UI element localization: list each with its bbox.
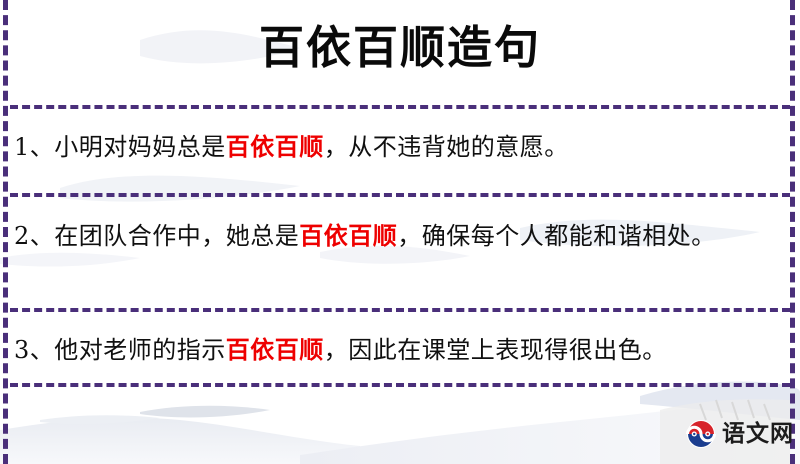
dashed-separator-3 [10,308,790,312]
sentence-text-after-3: ，因此在课堂上表现得很出色。 [324,336,667,364]
idiom-highlight-2: 百依百顺 [299,221,397,250]
site-logo[interactable]: 语文网 [686,414,794,454]
worksheet-page: 百依百顺造句 1、小明对妈妈总是百依百顺，从不违背她的意愿。 2、在团队合作中，… [0,0,800,464]
sentence-number-2: 2、 [14,222,54,250]
dashed-separator-1 [10,105,790,109]
idiom-highlight-1: 百依百顺 [226,132,324,161]
sentence-text-before-2: 在团队合作中，她总是 [54,222,299,250]
yuwen-emblem-icon [686,419,716,449]
sentence-text-after-1: ，从不违背她的意愿。 [324,133,569,161]
dashed-separator-4 [10,383,790,387]
site-logo-text: 语文网 [722,419,794,449]
sentence-item-1: 1、小明对妈妈总是百依百顺，从不违背她的意愿。 [14,125,782,169]
left-dashed-border [3,0,8,464]
sentence-number-3: 3、 [14,336,54,364]
page-title: 百依百顺造句 [0,18,800,78]
sentence-text-before-3: 他对老师的指示 [54,336,226,364]
sentence-item-2: 2、在团队合作中，她总是百依百顺，确保每个人都能和谐相处。 [14,214,782,258]
right-dashed-border [790,0,795,464]
dashed-separator-2 [10,193,790,197]
sentence-text-after-2: ，确保每个人都能和谐相处。 [397,222,716,250]
sentence-text-before-1: 小明对妈妈总是 [54,133,226,161]
idiom-highlight-3: 百依百顺 [226,335,324,364]
sentence-number-1: 1、 [14,133,54,161]
sentence-item-3: 3、他对老师的指示百依百顺，因此在课堂上表现得很出色。 [14,328,782,372]
